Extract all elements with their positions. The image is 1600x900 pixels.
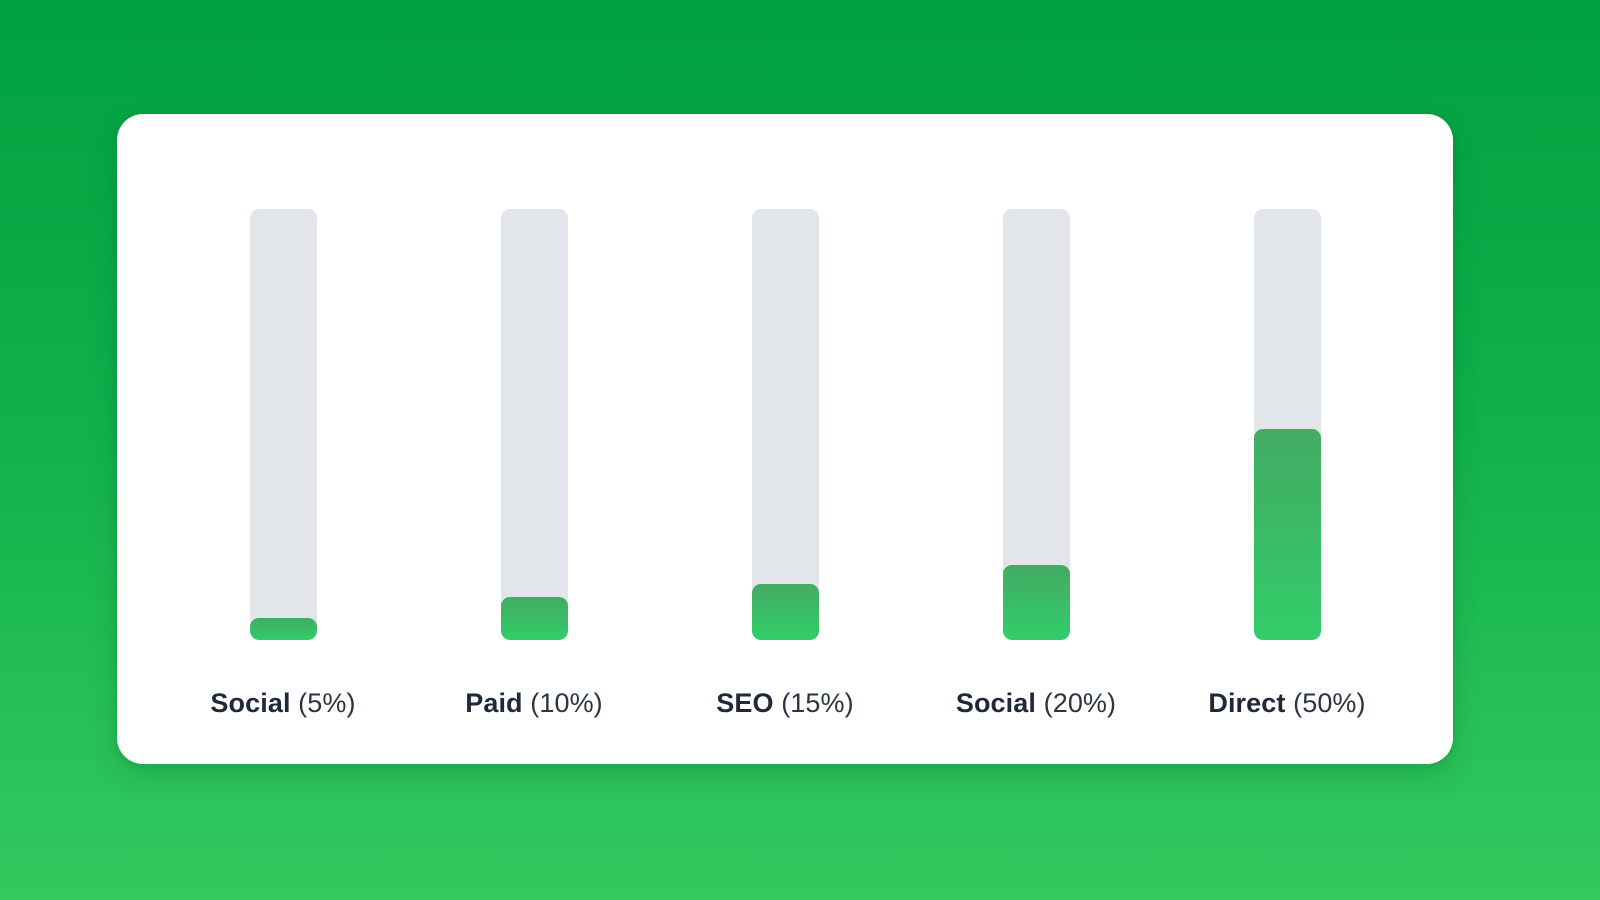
bar-track[interactable] xyxy=(250,209,317,640)
bar-label-name: Direct xyxy=(1208,688,1285,718)
bar-label-name: Social xyxy=(210,688,290,718)
page-root: Social (5%) Paid (10%) SEO xyxy=(0,0,1600,900)
bar-fill xyxy=(501,597,568,640)
bar-label: Social (20%) xyxy=(956,688,1116,719)
bar-track[interactable] xyxy=(752,209,819,640)
bar-label-name: Paid xyxy=(465,688,522,718)
bar-label-name: SEO xyxy=(716,688,773,718)
bar-label: Social (5%) xyxy=(210,688,355,719)
bar-fill xyxy=(1254,429,1321,640)
bar-group-direct-50[interactable]: Direct (50%) xyxy=(1162,114,1413,764)
bar-fill xyxy=(1003,565,1070,640)
bar-track[interactable] xyxy=(501,209,568,640)
bar-fill xyxy=(752,584,819,640)
bar-label: SEO (15%) xyxy=(716,688,853,719)
bar-track[interactable] xyxy=(1254,209,1321,640)
bar-label: Direct (50%) xyxy=(1208,688,1365,719)
bar-label-percent: (20%) xyxy=(1044,688,1117,718)
bar-track[interactable] xyxy=(1003,209,1070,640)
bar-fill xyxy=(250,618,317,640)
bar-group-social-20[interactable]: Social (20%) xyxy=(911,114,1162,764)
bar-label-percent: (50%) xyxy=(1293,688,1366,718)
bar-group-paid-10[interactable]: Paid (10%) xyxy=(409,114,660,764)
bar-label-percent: (10%) xyxy=(530,688,603,718)
bar-label-percent: (5%) xyxy=(298,688,355,718)
progress-bar-chart: Social (5%) Paid (10%) SEO xyxy=(117,114,1453,764)
bar-label-percent: (15%) xyxy=(781,688,854,718)
chart-card: Social (5%) Paid (10%) SEO xyxy=(117,114,1453,764)
bar-group-seo-15[interactable]: SEO (15%) xyxy=(660,114,911,764)
bar-label: Paid (10%) xyxy=(465,688,603,719)
bar-label-name: Social xyxy=(956,688,1036,718)
bar-group-social-5[interactable]: Social (5%) xyxy=(158,114,409,764)
